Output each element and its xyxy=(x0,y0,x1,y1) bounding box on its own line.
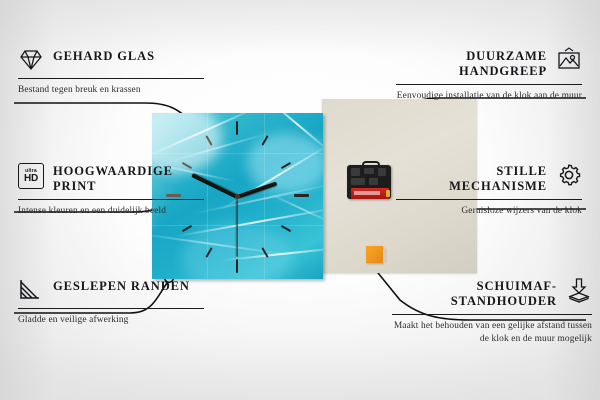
movement-body xyxy=(347,165,391,199)
divider xyxy=(18,308,204,309)
divider xyxy=(396,84,582,85)
hour-marker xyxy=(236,259,238,273)
feature-title: DUURZAME HANDGREEP xyxy=(396,47,547,79)
ultra-hd-icon-bottom: HD xyxy=(24,174,38,184)
feature-gehard-glas: GEHARD GLAS Bestand tegen breuk en krass… xyxy=(18,47,204,97)
feature-description: Eenvoudige installatie van de klok aan d… xyxy=(396,90,582,103)
feature-description: Bestand tegen breuk en krassen xyxy=(18,84,204,97)
ultra-hd-icon: ultra HD xyxy=(18,163,44,189)
hour-marker xyxy=(236,121,238,135)
feature-title: SCHUIMAF- STANDHOUDER xyxy=(392,277,557,309)
feature-geslepen-randen: GESLEPEN RANDEN Gladde en veilige afwerk… xyxy=(18,277,204,327)
feature-description: Gladde en veilige afwerking xyxy=(18,314,204,327)
bevelled-edges-icon xyxy=(18,277,44,303)
divider xyxy=(18,199,204,200)
divider xyxy=(392,314,592,315)
feature-description: Maakt het behouden van een gelijke afsta… xyxy=(392,320,592,345)
feature-title: STILLE MECHANISME xyxy=(396,162,547,194)
down-arrow-pad-icon xyxy=(566,277,592,303)
battery xyxy=(351,188,389,199)
feature-description: Geruisloze wijzers van de klok xyxy=(396,205,582,218)
feature-duurzame-handgreep: DUURZAME HANDGREEP Eenvoudige installati… xyxy=(396,47,582,103)
diamond-icon xyxy=(18,47,44,73)
second-hand xyxy=(236,197,237,257)
battery-terminal xyxy=(386,190,390,197)
hour-marker xyxy=(294,194,309,197)
feature-hoogwaardige-print: ultra HD HOOGWAARDIGE PRINT Intense kleu… xyxy=(18,162,204,218)
feature-title: GESLEPEN RANDEN xyxy=(53,277,204,294)
feature-title: GEHARD GLAS xyxy=(53,47,204,64)
clock-center-pin xyxy=(235,194,240,199)
divider xyxy=(396,199,582,200)
infographic-canvas: GEHARD GLAS Bestand tegen breuk en krass… xyxy=(0,0,600,400)
clock-movement xyxy=(347,161,391,199)
foam-spacer-shadow xyxy=(383,249,387,263)
gear-icon xyxy=(556,162,582,188)
framed-picture-icon xyxy=(556,47,582,73)
feature-schuimafstandhouder: SCHUIMAF- STANDHOUDER Maakt het behouden… xyxy=(392,277,592,345)
feature-description: Intense kleuren en een duidelijk beeld xyxy=(18,205,204,218)
feature-title: HOOGWAARDIGE PRINT xyxy=(53,162,204,194)
foam-spacer xyxy=(366,246,383,263)
divider xyxy=(18,78,204,79)
feature-stille-mechanisme: STILLE MECHANISME Geruisloze wijzers van… xyxy=(396,162,582,218)
